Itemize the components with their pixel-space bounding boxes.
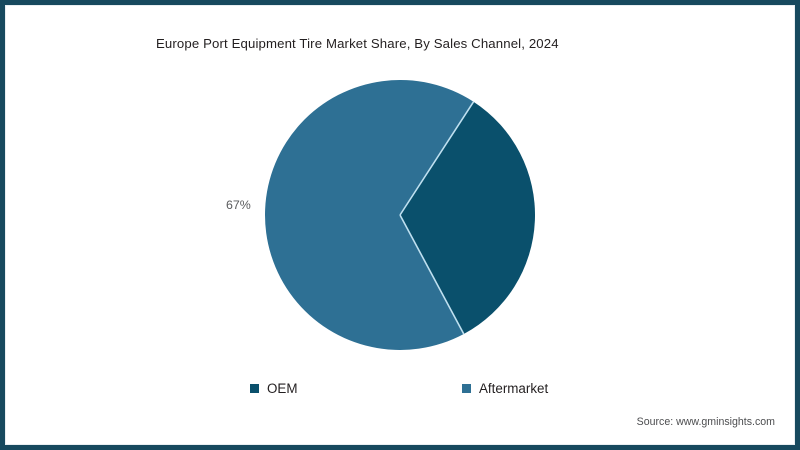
chart-legend: OEM Aftermarket <box>250 378 590 398</box>
legend-label-oem: OEM <box>267 381 298 396</box>
frame-border-left <box>0 0 5 450</box>
legend-label-aftermarket: Aftermarket <box>479 381 548 396</box>
legend-item-aftermarket[interactable]: Aftermarket <box>462 378 548 398</box>
legend-swatch-oem <box>250 384 259 393</box>
source-attribution: Source: www.gminsights.com <box>637 416 775 428</box>
legend-item-oem[interactable]: OEM <box>250 378 298 398</box>
frame-border-top <box>0 0 800 5</box>
pie-chart-svg <box>265 80 535 350</box>
pie-data-label-aftermarket: 67% <box>226 198 251 212</box>
chart-figure: Europe Port Equipment Tire Market Share,… <box>0 0 800 450</box>
frame-border-right <box>795 0 800 450</box>
pie-chart <box>265 80 535 350</box>
frame-border-bottom <box>0 445 800 450</box>
chart-title: Europe Port Equipment Tire Market Share,… <box>156 36 559 51</box>
legend-swatch-aftermarket <box>462 384 471 393</box>
